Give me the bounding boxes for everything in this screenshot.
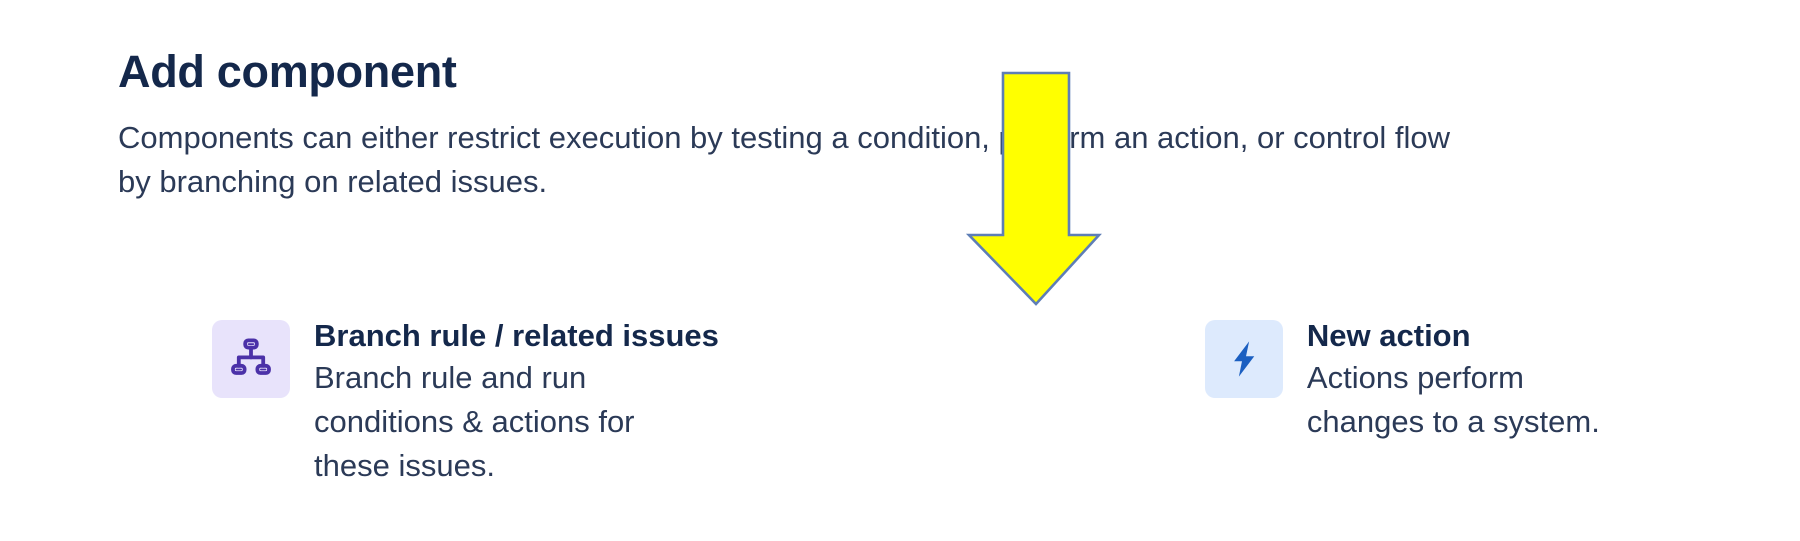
- panel-header: Add component Components can either rest…: [118, 44, 1538, 204]
- option-subtitle-branch-rule: Branch rule and run conditions & actions…: [314, 356, 719, 488]
- option-text-branch-rule: Branch rule / related issues Branch rule…: [314, 316, 719, 488]
- option-card-branch-rule[interactable]: Branch rule / related issues Branch rule…: [212, 316, 719, 488]
- hierarchy-icon-tile: [212, 320, 290, 398]
- lightning-bolt-icon-tile: [1205, 320, 1283, 398]
- page-title: Add component: [118, 44, 1538, 100]
- add-component-panel: Add component Components can either rest…: [0, 0, 1800, 541]
- option-text-new-action: New action Actions perform changes to a …: [1307, 316, 1618, 444]
- lightning-bolt-icon: [1222, 337, 1266, 381]
- hierarchy-icon: [227, 335, 275, 383]
- panel-description: Components can either restrict execution…: [118, 100, 1488, 204]
- component-options-list: Branch rule / related issues Branch rule…: [118, 316, 1618, 488]
- option-title-new-action: New action: [1307, 318, 1471, 353]
- option-subtitle-new-action: Actions perform changes to a system.: [1307, 356, 1618, 444]
- option-card-new-action[interactable]: New action Actions perform changes to a …: [1205, 316, 1618, 444]
- option-title-branch-rule: Branch rule / related issues: [314, 318, 719, 353]
